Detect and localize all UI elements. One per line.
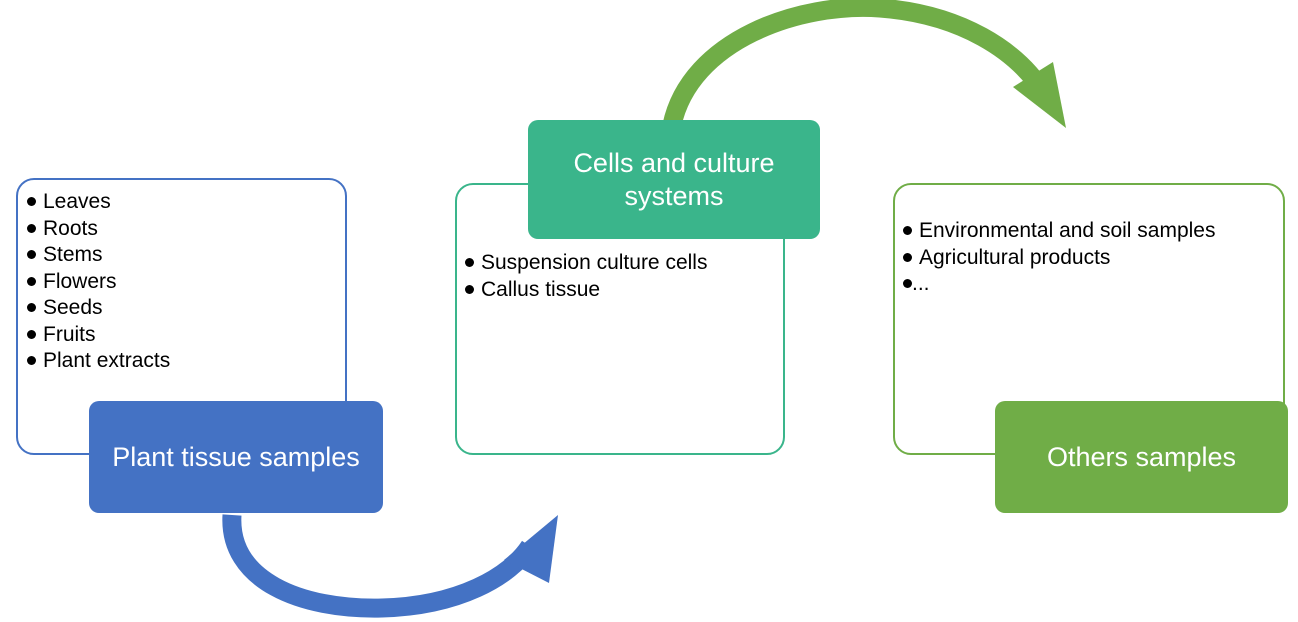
list-item-label: Suspension culture cells (481, 250, 707, 276)
list-item: Plant extracts (27, 348, 170, 374)
bullet-icon (903, 279, 912, 288)
list-item-label: ... (912, 271, 930, 297)
bullet-icon (27, 277, 36, 286)
green-curved-arrow (672, 7, 1066, 128)
blue-curved-arrow (232, 515, 558, 608)
list-item: Callus tissue (465, 277, 707, 303)
cells-culture-systems-label: Cells and culture systems (542, 147, 806, 213)
list-item: Suspension culture cells (465, 250, 707, 276)
list-item: Fruits (27, 322, 170, 348)
list-item-label: Roots (43, 216, 98, 242)
others-item-list: Environmental and soil samples Agricultu… (903, 218, 1215, 298)
list-item: Leaves (27, 189, 170, 215)
bullet-icon (465, 258, 474, 267)
list-item-label: Leaves (43, 189, 111, 215)
list-item: ... (903, 271, 1215, 297)
list-item-label: Seeds (43, 295, 103, 321)
bullet-icon (903, 226, 912, 235)
bullet-icon (27, 197, 36, 206)
list-item: Seeds (27, 295, 170, 321)
bullet-icon (27, 303, 36, 312)
list-item-label: Callus tissue (481, 277, 600, 303)
list-item: Flowers (27, 269, 170, 295)
list-item: Agricultural products (903, 245, 1215, 271)
bullet-icon (465, 285, 474, 294)
bullet-icon (27, 224, 36, 233)
list-item-label: Environmental and soil samples (919, 218, 1215, 244)
list-item-label: Agricultural products (919, 245, 1110, 271)
list-item-label: Fruits (43, 322, 96, 348)
plant-tissue-item-list: Leaves Roots Stems Flowers Seeds Fruits … (27, 189, 170, 375)
plant-tissue-samples-label: Plant tissue samples (112, 441, 360, 474)
bullet-icon (27, 356, 36, 365)
bullet-icon (27, 250, 36, 259)
list-item: Roots (27, 216, 170, 242)
others-samples-label: Others samples (1047, 441, 1236, 474)
list-item: Stems (27, 242, 170, 268)
diagram-canvas: Leaves Roots Stems Flowers Seeds Fruits … (0, 0, 1298, 622)
list-item-label: Plant extracts (43, 348, 170, 374)
bullet-icon (27, 330, 36, 339)
cells-culture-item-list: Suspension culture cells Callus tissue (465, 250, 707, 303)
list-item-label: Stems (43, 242, 103, 268)
list-item-label: Flowers (43, 269, 117, 295)
bullet-icon (903, 253, 912, 262)
cells-culture-systems-label-box[interactable]: Cells and culture systems (528, 120, 820, 239)
plant-tissue-samples-label-box[interactable]: Plant tissue samples (89, 401, 383, 513)
others-samples-label-box[interactable]: Others samples (995, 401, 1288, 513)
list-item: Environmental and soil samples (903, 218, 1215, 244)
